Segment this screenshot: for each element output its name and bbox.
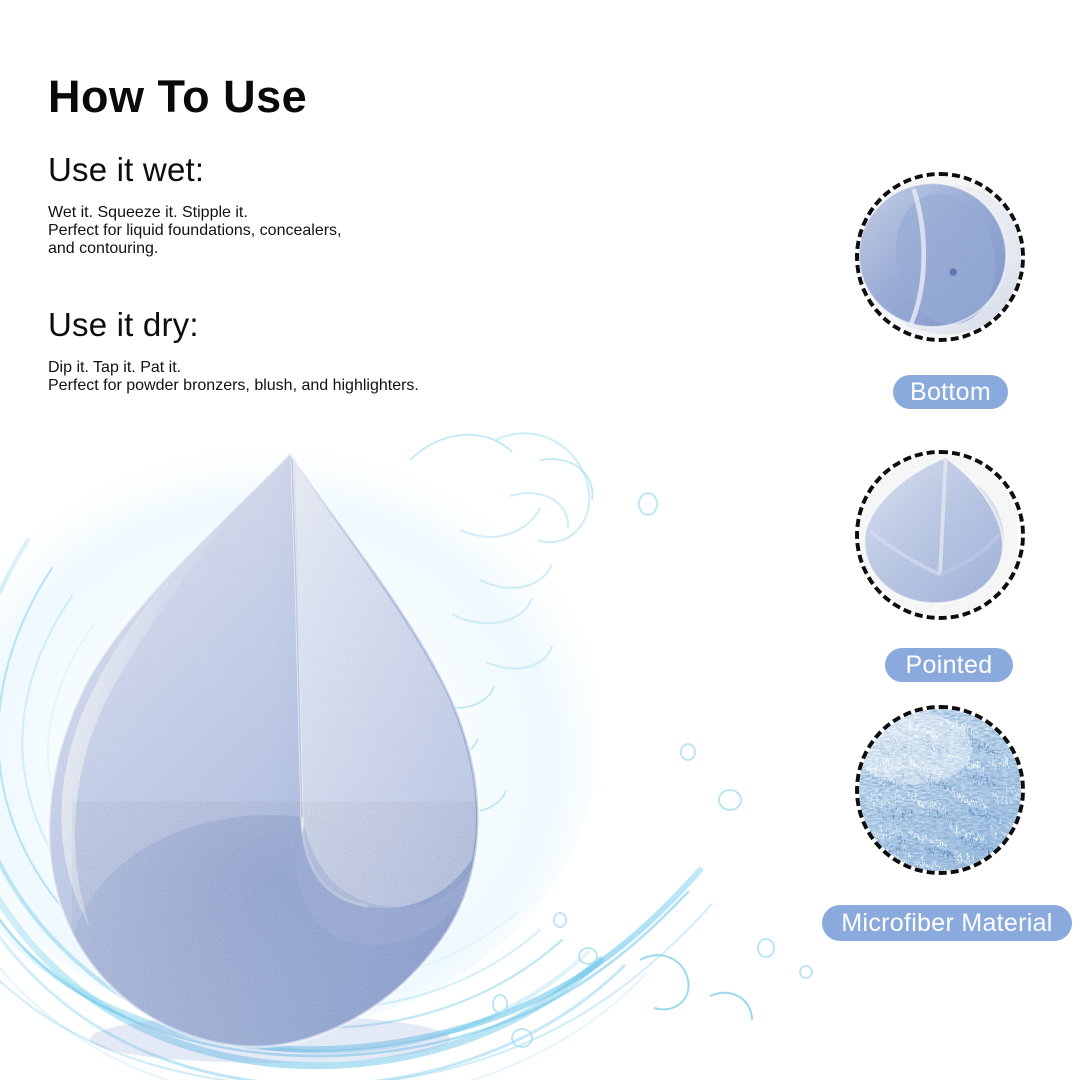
feature-pointed-disc bbox=[855, 450, 1025, 620]
dry-line-2: Perfect for powder bronzers, blush, and … bbox=[48, 377, 748, 395]
feature-bottom: Bottom bbox=[855, 172, 1025, 342]
page-title: How To Use bbox=[48, 74, 748, 119]
product-infographic: How To Use Use it wet: Wet it. Squeeze i… bbox=[0, 0, 1080, 1080]
feature-pointed-label: Pointed bbox=[885, 648, 1013, 682]
wet-line-3: and contouring. bbox=[48, 240, 748, 258]
product-sponge-image bbox=[20, 445, 560, 1065]
feature-bottom-disc bbox=[855, 172, 1025, 342]
feature-microfiber-label: Microfiber Material bbox=[822, 905, 1072, 941]
instructions-block: How To Use Use it wet: Wet it. Squeeze i… bbox=[48, 74, 748, 411]
wet-line-1: Wet it. Squeeze it. Stipple it. bbox=[48, 204, 748, 222]
feature-pointed: Pointed bbox=[855, 450, 1025, 620]
subheading-use-it-wet: Use it wet: bbox=[48, 153, 748, 186]
feature-bottom-photo bbox=[855, 172, 1025, 342]
wet-line-2: Perfect for liquid foundations, conceale… bbox=[48, 222, 748, 240]
feature-microfiber-disc bbox=[855, 705, 1025, 875]
feature-pointed-photo bbox=[855, 450, 1025, 620]
feature-microfiber-photo bbox=[855, 705, 1025, 875]
dry-line-1: Dip it. Tap it. Pat it. bbox=[48, 359, 748, 377]
feature-microfiber: Microfiber Material bbox=[855, 705, 1025, 875]
section-spacer bbox=[48, 274, 748, 308]
subheading-use-it-dry: Use it dry: bbox=[48, 308, 748, 341]
feature-bottom-label: Bottom bbox=[893, 375, 1008, 409]
